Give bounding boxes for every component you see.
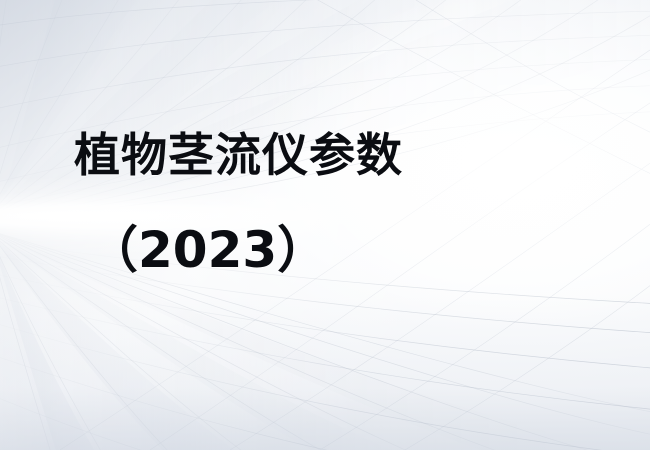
title-text-block: 植物茎流仪参数 （2023） (0, 0, 650, 450)
title-slide: 植物茎流仪参数 （2023） (0, 0, 650, 450)
slide-title-line-2: （2023） (88, 225, 327, 275)
slide-title-line-1: 植物茎流仪参数 (74, 132, 403, 178)
